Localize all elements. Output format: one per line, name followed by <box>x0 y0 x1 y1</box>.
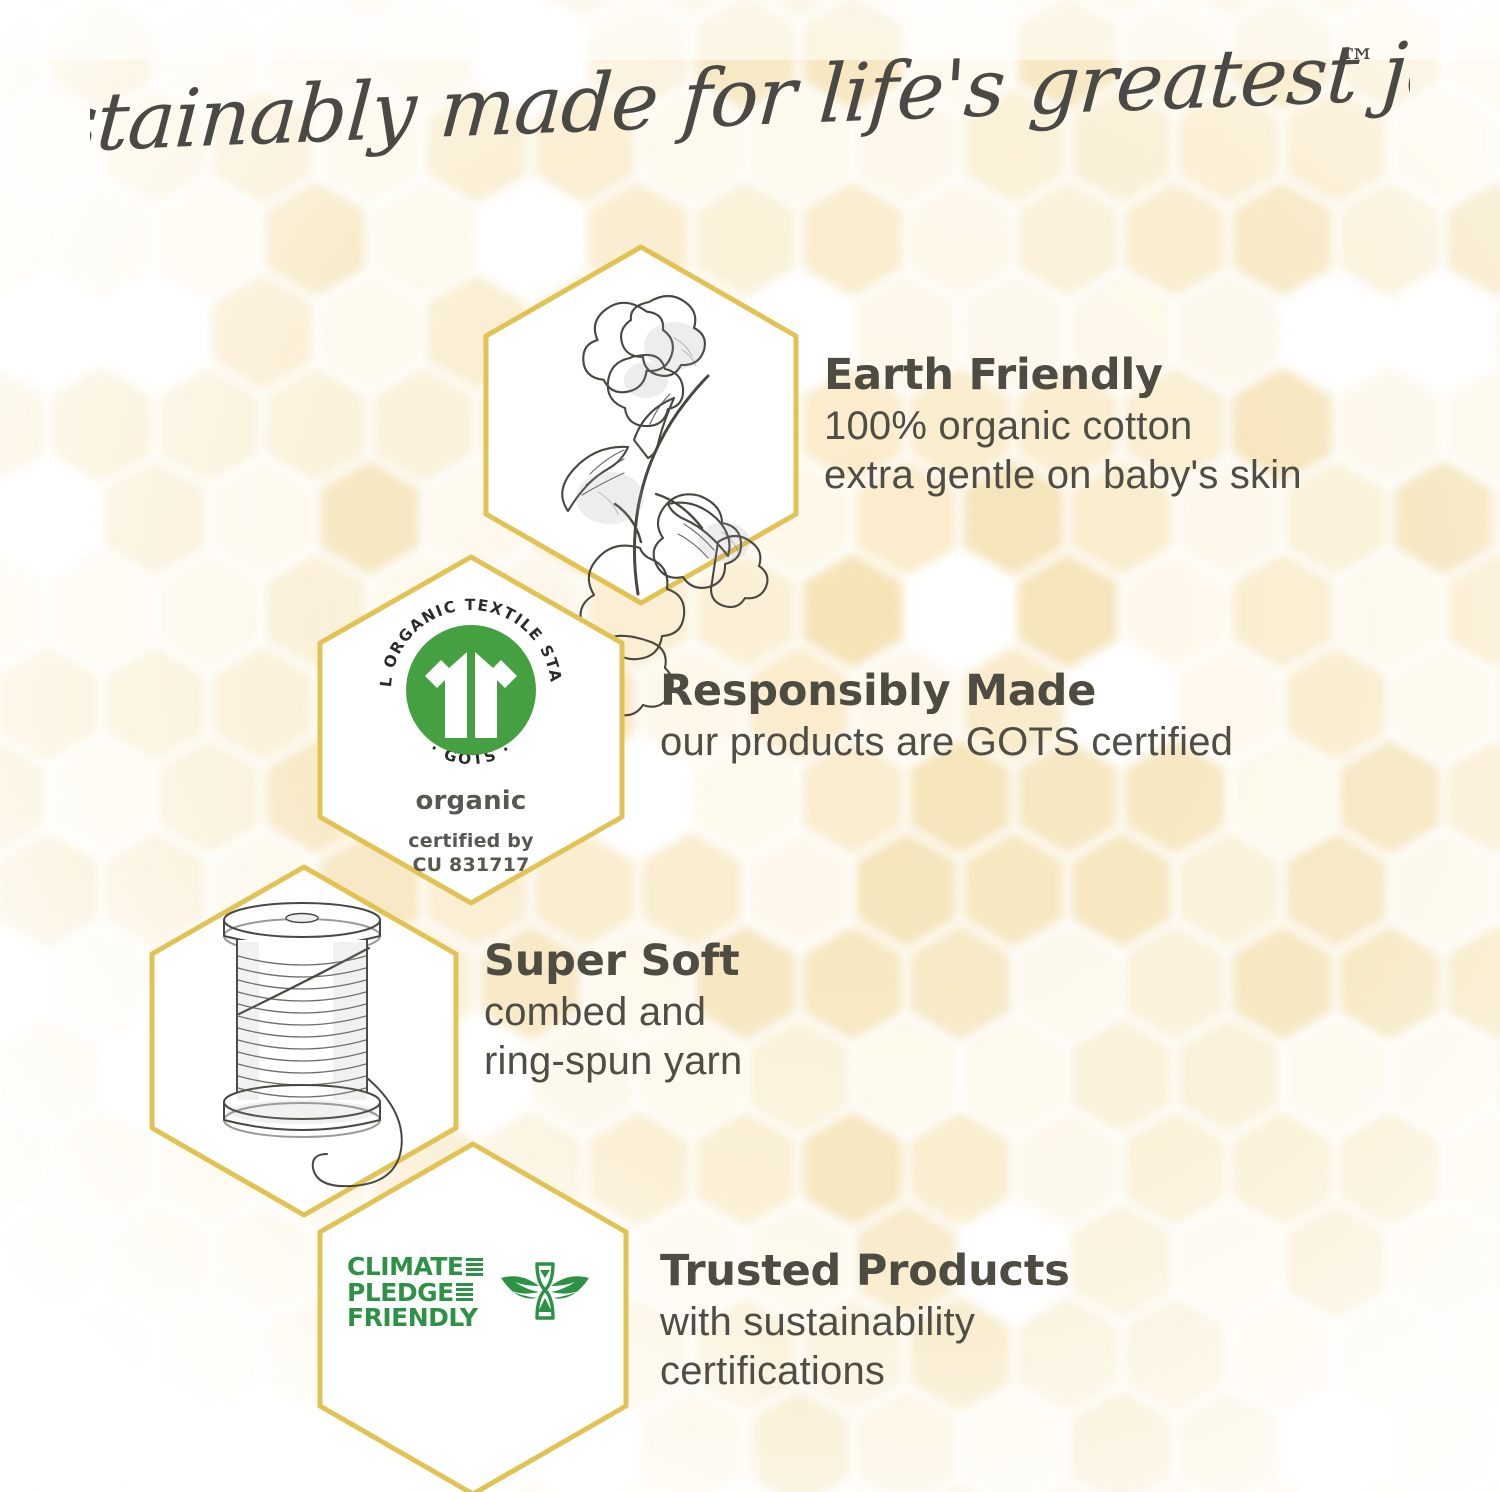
cpf-line-3: FRIENDLY <box>347 1305 478 1331</box>
cpf-line-2: PLEDGE <box>347 1280 454 1306</box>
feature-line: our products are GOTS certified <box>660 718 1460 767</box>
feature-line: certifications <box>660 1347 1300 1396</box>
feature-title: Earth Friendly <box>824 352 1444 398</box>
feature-hex-super-soft <box>145 862 463 1220</box>
headline-text: sustainably made for life's greatest joy <box>90 28 1410 168</box>
gots-badge: GLOBAL ORGANIC TEXTILE STANDARD · GOTS ·… <box>313 580 629 878</box>
gots-certified-by: certified by <box>313 830 629 854</box>
climate-pledge-wordmark: CLIMATE PLEDGE FRIENDLY <box>347 1254 483 1331</box>
climate-pledge-friendly-icon: CLIMATE PLEDGE FRIENDLY <box>347 1254 607 1331</box>
feature-line: extra gentle on baby's skin <box>824 451 1444 500</box>
feature-hex-responsibly-made: GLOBAL ORGANIC TEXTILE STANDARD · GOTS ·… <box>313 552 629 908</box>
cpf-bars-icon <box>466 1258 483 1276</box>
gots-organic-word: organic <box>313 786 629 816</box>
feature-text-super-soft: Super Soft combed and ring-spun yarn <box>484 938 1044 1086</box>
feature-title: Responsibly Made <box>660 668 1460 714</box>
feature-line: 100% organic cotton <box>824 402 1444 451</box>
feature-title: Trusted Products <box>660 1248 1300 1294</box>
feature-text-trusted-products: Trusted Products with sustainability cer… <box>660 1248 1300 1396</box>
feature-text-earth-friendly: Earth Friendly 100% organic cotton extra… <box>824 352 1444 500</box>
cpf-bars-icon <box>456 1283 473 1301</box>
winged-hourglass-icon <box>499 1256 591 1328</box>
feature-title: Super Soft <box>484 938 1044 984</box>
gots-green-disc <box>406 625 536 755</box>
feature-line: ring-spun yarn <box>484 1037 1044 1086</box>
sustainability-infographic: sustainably made for life's greatest joy… <box>0 0 1500 1492</box>
feature-line: combed and <box>484 988 1044 1037</box>
feature-line: with sustainability <box>660 1298 1300 1347</box>
feature-text-responsibly-made: Responsibly Made our products are GOTS c… <box>660 668 1460 767</box>
feature-hex-trusted-products: CLIMATE PLEDGE FRIENDLY <box>313 1192 633 1492</box>
cpf-line-1: CLIMATE <box>347 1254 464 1280</box>
trademark-symbol: ™ <box>1338 41 1376 85</box>
page-headline: sustainably made for life's greatest joy… <box>0 28 1500 168</box>
